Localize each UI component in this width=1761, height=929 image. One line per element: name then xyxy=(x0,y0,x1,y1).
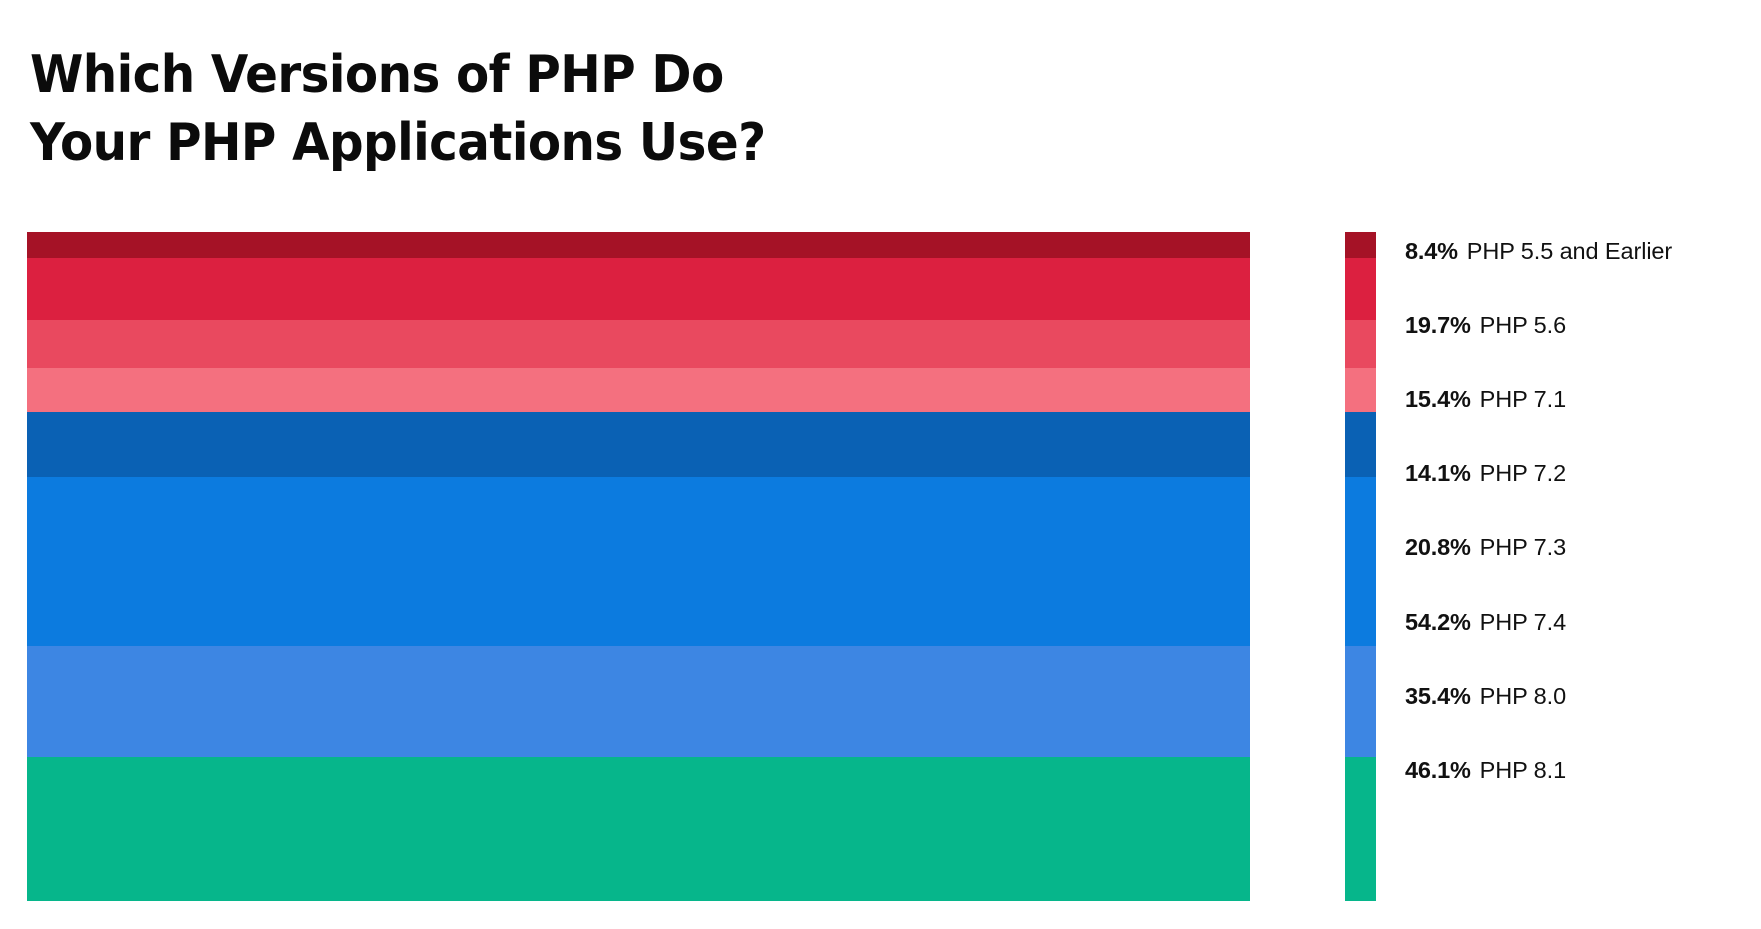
legend-item-value: 8.4% xyxy=(1405,238,1458,265)
legend-item-label: PHP 8.1 xyxy=(1480,757,1566,784)
legend-item-label: PHP 7.3 xyxy=(1480,534,1566,561)
chart-band[interactable] xyxy=(27,320,1250,368)
legend-swatch[interactable] xyxy=(1345,646,1376,757)
legend-item[interactable]: 19.7%PHP 5.6 xyxy=(1405,310,1745,340)
legend-item-value: 14.1% xyxy=(1405,460,1471,487)
legend-item[interactable]: 46.1%PHP 8.1 xyxy=(1405,755,1745,785)
legend-item-value: 19.7% xyxy=(1405,312,1471,339)
legend-swatch[interactable] xyxy=(1345,412,1376,477)
legend-item-value: 46.1% xyxy=(1405,757,1471,784)
legend-item[interactable]: 14.1%PHP 7.2 xyxy=(1405,459,1745,489)
legend-item-value: 54.2% xyxy=(1405,609,1471,636)
legend-swatch[interactable] xyxy=(1345,232,1376,258)
legend-label-list: 8.4%PHP 5.5 and Earlier19.7%PHP 5.615.4%… xyxy=(1405,232,1745,901)
chart-band[interactable] xyxy=(27,646,1250,757)
chart-band[interactable] xyxy=(27,258,1250,320)
chart-legend: 8.4%PHP 5.5 and Earlier19.7%PHP 5.615.4%… xyxy=(1345,232,1745,901)
legend-swatch[interactable] xyxy=(1345,258,1376,320)
legend-swatch[interactable] xyxy=(1345,320,1376,368)
chart-page: Which Versions of PHP Do Your PHP Applic… xyxy=(0,0,1761,929)
legend-item-label: PHP 7.1 xyxy=(1480,386,1566,413)
page-title: Which Versions of PHP Do Your PHP Applic… xyxy=(30,41,1053,178)
legend-item-value: 20.8% xyxy=(1405,534,1471,561)
legend-swatch[interactable] xyxy=(1345,757,1376,901)
legend-color-strip xyxy=(1345,232,1376,901)
legend-item-label: PHP 5.6 xyxy=(1480,312,1566,339)
legend-item[interactable]: 8.4%PHP 5.5 and Earlier xyxy=(1405,236,1745,266)
legend-item[interactable]: 54.2%PHP 7.4 xyxy=(1405,607,1745,637)
chart-band[interactable] xyxy=(27,757,1250,901)
legend-item-label: PHP 5.5 and Earlier xyxy=(1467,238,1672,265)
legend-swatch[interactable] xyxy=(1345,477,1376,646)
legend-item[interactable]: 15.4%PHP 7.1 xyxy=(1405,384,1745,414)
legend-item-label: PHP 8.0 xyxy=(1480,683,1566,710)
legend-item-value: 35.4% xyxy=(1405,683,1471,710)
legend-item[interactable]: 35.4%PHP 8.0 xyxy=(1405,681,1745,711)
chart-band[interactable] xyxy=(27,368,1250,412)
legend-swatch[interactable] xyxy=(1345,368,1376,412)
chart-band[interactable] xyxy=(27,232,1250,258)
chart-band[interactable] xyxy=(27,412,1250,477)
legend-item-label: PHP 7.2 xyxy=(1480,460,1566,487)
legend-item[interactable]: 20.8%PHP 7.3 xyxy=(1405,533,1745,563)
chart-band[interactable] xyxy=(27,477,1250,646)
stacked-bar-chart xyxy=(27,232,1250,901)
legend-item-value: 15.4% xyxy=(1405,386,1471,413)
legend-item-label: PHP 7.4 xyxy=(1480,609,1566,636)
